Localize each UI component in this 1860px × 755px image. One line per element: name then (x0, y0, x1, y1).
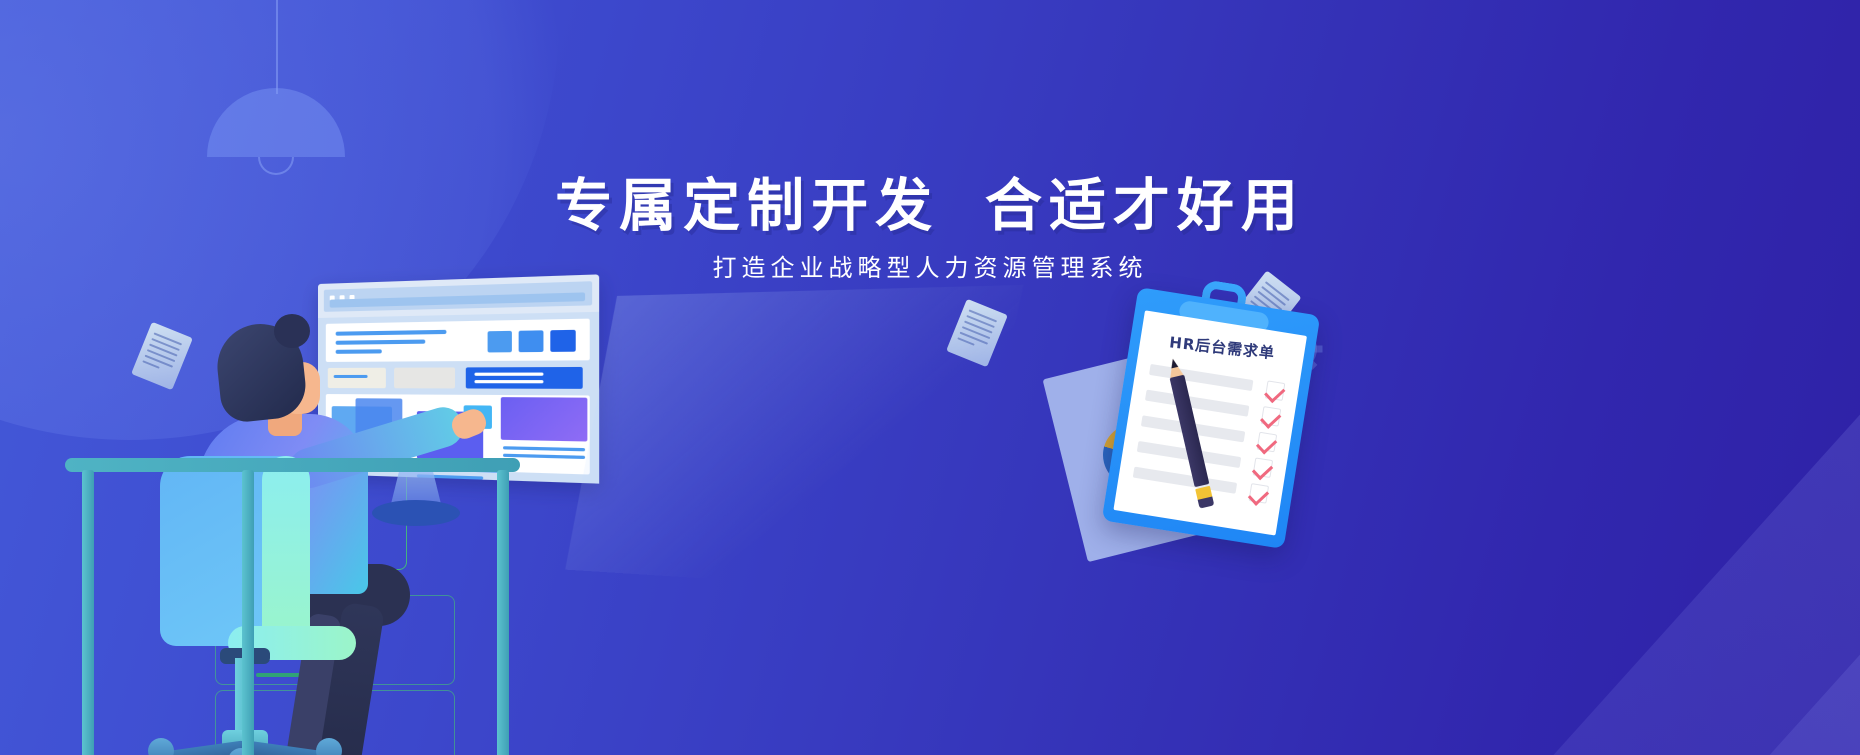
check-icon[interactable] (1265, 380, 1286, 401)
background-diagonal-bar-1 (1278, 318, 1860, 755)
chair-caster (148, 738, 174, 755)
page-title: 专属定制开发 合适才好用 (0, 178, 1860, 235)
page-subtitle: 打造企业战略型人力资源管理系统 (0, 257, 1860, 281)
hero-banner: HR后台需求单 专属定制开发 合适才好用 打造企业战略型人力资源管理系统 (0, 0, 1860, 755)
hero-copy: 专属定制开发 合适才好用 打造企业战略型人力资源管理系统 (0, 178, 1860, 281)
document-icon (946, 299, 1008, 367)
illustration-person-at-desk (60, 270, 620, 755)
browser-url-bar (330, 292, 585, 307)
clipboard-icon: HR后台需求单 (1102, 287, 1321, 549)
desk-leg (242, 470, 254, 755)
pendant-lamp-cord (276, 0, 278, 94)
checklist-row (1149, 364, 1253, 391)
check-icon[interactable] (1248, 483, 1269, 504)
person-hair-bun (274, 314, 310, 348)
check-icon[interactable] (1257, 432, 1278, 453)
desk-leg (82, 470, 94, 755)
checklist-row (1145, 390, 1249, 417)
clipboard-title: HR后台需求单 (1140, 328, 1305, 366)
check-icon[interactable] (1253, 457, 1274, 478)
desk-leg (497, 470, 509, 755)
illustration-hr-clipboard: HR后台需求单 (1055, 300, 1345, 590)
checklist-row (1133, 467, 1237, 494)
desk-surface (65, 458, 520, 472)
check-icon[interactable] (1261, 406, 1282, 427)
